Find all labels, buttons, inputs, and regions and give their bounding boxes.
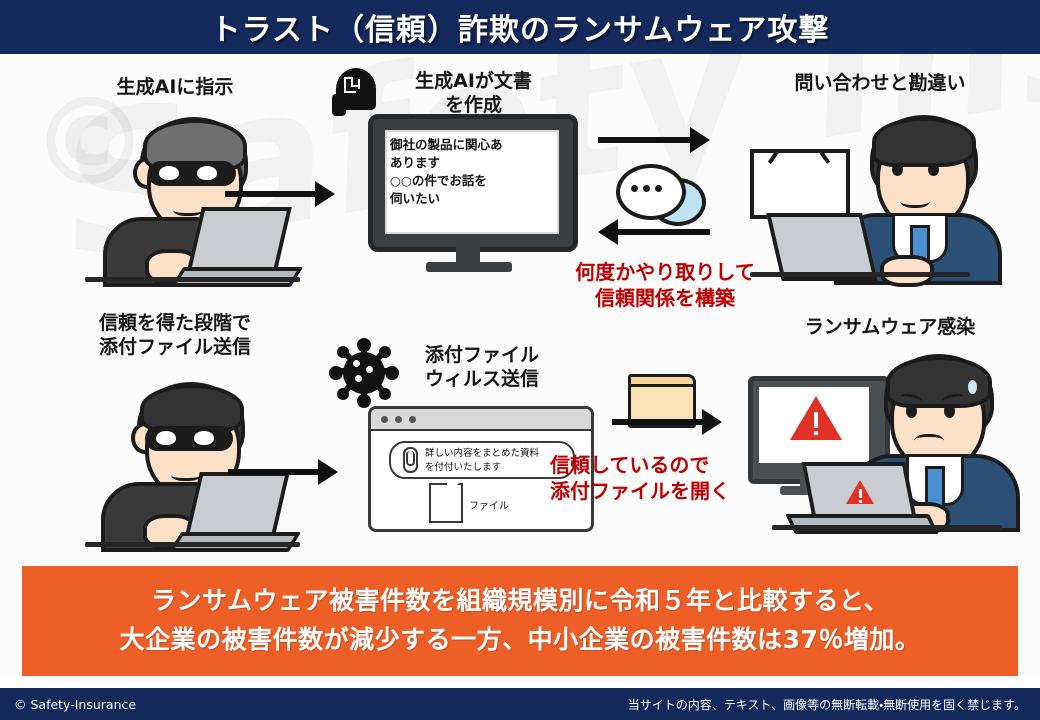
ai-neck bbox=[332, 94, 346, 116]
footer-copyright: © Safety-Insurance bbox=[14, 697, 136, 712]
diagram-stage: © Safety Insurance 生成AIに指示 bbox=[0, 54, 1040, 560]
hacker2-eye-right bbox=[194, 431, 214, 445]
step6-label: ランサムウェア感染 bbox=[760, 316, 1020, 340]
hacker2-mouth bbox=[171, 466, 201, 481]
virus-knob-n bbox=[357, 338, 371, 352]
monitor-draft-text: 御社の製品に関心あ あります ○○の件でお話を 伺いたい bbox=[390, 136, 550, 209]
window-dot-1 bbox=[381, 416, 388, 423]
virus-knob-w bbox=[329, 366, 343, 380]
businessman-desk bbox=[750, 272, 970, 277]
monitor-foot bbox=[426, 262, 512, 272]
step4-label: 信頼を得た段階で 添付ファイル送信 bbox=[50, 312, 300, 360]
step3-label: 問い合わせと勘違い bbox=[755, 72, 1005, 96]
page-footer: © Safety-Insurance 当サイトの内容、テキスト、画像等の無断転載… bbox=[0, 688, 1040, 720]
window-dot-3 bbox=[409, 416, 416, 423]
virus-hole-3 bbox=[355, 375, 362, 382]
window-titlebar bbox=[371, 409, 591, 431]
window-dot-2 bbox=[395, 416, 402, 423]
hacker-scene-1 bbox=[85, 109, 335, 269]
laptop-bang-dot bbox=[859, 500, 862, 503]
infographic-page: トラスト（信頼）詐欺のランサムウェア攻撃 © Safety Insurance … bbox=[0, 0, 1040, 720]
virus-hole-1 bbox=[353, 360, 360, 367]
footer-spacer bbox=[0, 676, 1040, 688]
businessman-fringe bbox=[872, 117, 976, 167]
envelope-flap bbox=[754, 153, 838, 193]
summary-banner: ランサムウェア被害件数を組織規模別に令和５年と比較すると、 大企業の被害件数が減… bbox=[22, 566, 1018, 676]
hacker2-eye-left bbox=[156, 431, 176, 445]
banner-line-1: ランサムウェア被害件数を組織規模別に令和５年と比較すると、 bbox=[151, 582, 889, 621]
virus-hole-2 bbox=[366, 366, 373, 373]
file-icon-fold bbox=[447, 483, 459, 495]
infection-scene bbox=[742, 354, 1032, 554]
warning-bang-dot bbox=[814, 431, 818, 435]
chat-dot-1 bbox=[631, 185, 638, 192]
chat-dot-3 bbox=[655, 185, 662, 192]
page-header: トラスト（信頼）詐欺のランサムウェア攻撃 bbox=[0, 0, 1040, 54]
virus-core bbox=[343, 352, 385, 394]
chat-bubble-white bbox=[616, 164, 686, 220]
step1-label: 生成AIに指示 bbox=[60, 76, 290, 100]
businessman-eye-left bbox=[892, 163, 903, 176]
hacker-scene-2 bbox=[85, 376, 335, 536]
virus-knob-nw bbox=[337, 346, 349, 358]
hacker-eye-left bbox=[159, 166, 179, 180]
victim-frown bbox=[914, 434, 944, 449]
businessman-laptop bbox=[766, 213, 878, 281]
step2-label: 生成AIが文書 を作成 bbox=[386, 70, 561, 118]
virus-knob-s bbox=[357, 394, 371, 408]
banner-line-2: 大企業の被害件数が減少する一方、中小企業の被害件数は37％増加。 bbox=[120, 621, 921, 660]
chat-bubbles-icon bbox=[612, 162, 708, 226]
victim-sweat-drop bbox=[968, 380, 977, 394]
step5-label: 添付ファイル ウィルス送信 bbox=[392, 344, 572, 392]
virus-knob-ne bbox=[379, 346, 391, 358]
file-label: ファイル bbox=[469, 497, 509, 512]
attachment-text: 詳しい内容をまとめた資料 を付付いたします bbox=[425, 447, 565, 475]
businessman-mouth bbox=[900, 193, 930, 208]
ai-brain-head-icon bbox=[330, 64, 386, 120]
warning-bang-stem bbox=[814, 412, 818, 428]
victim-desk bbox=[772, 525, 1002, 530]
ai-circuit-glyph bbox=[342, 74, 364, 96]
virus-knob-sw bbox=[337, 388, 349, 400]
hacker-mouth bbox=[173, 201, 203, 216]
victim-laptop-base bbox=[785, 514, 939, 534]
businessman-eye-right bbox=[928, 163, 939, 176]
paperclip-icon bbox=[401, 447, 417, 471]
folder-icon bbox=[628, 370, 698, 426]
chat-dot-2 bbox=[643, 185, 650, 192]
footer-disclaimer: 当サイトの内容、テキスト、画像等の無断転載・無断使用を固く禁じます。 bbox=[628, 696, 1026, 713]
businessman-scene bbox=[730, 109, 1020, 279]
hacker-eye-right bbox=[197, 166, 217, 180]
virus-knob-se bbox=[379, 388, 391, 400]
desk-line bbox=[85, 277, 300, 282]
monitor-neck bbox=[456, 242, 480, 264]
desk2-line bbox=[85, 542, 300, 547]
businessman-hands bbox=[880, 255, 934, 287]
page-title: トラスト（信頼）詐欺のランサムウェア攻撃 bbox=[211, 5, 830, 49]
laptop-bang-stem bbox=[859, 489, 862, 498]
virus-icon bbox=[333, 342, 395, 404]
